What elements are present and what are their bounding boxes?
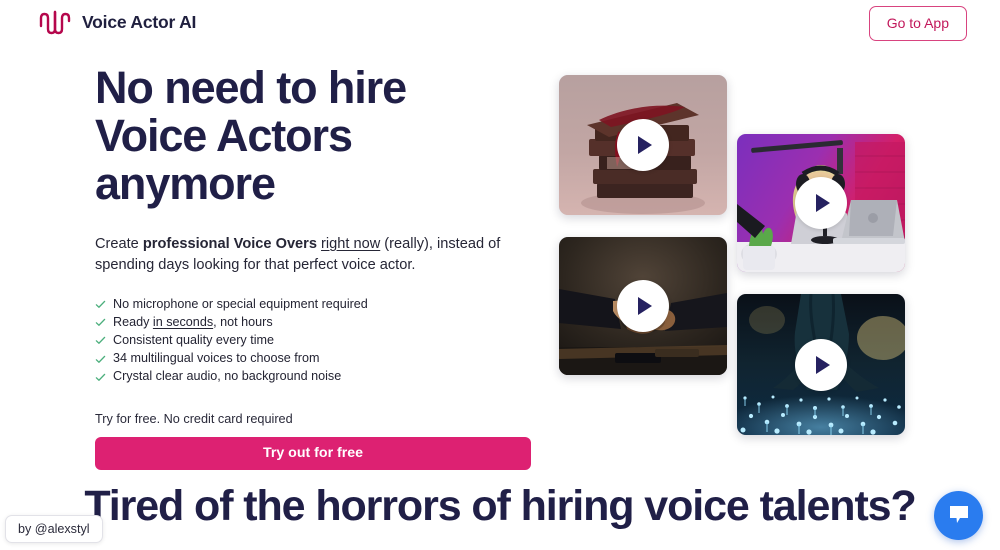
feature-link[interactable]: in seconds [153, 315, 213, 329]
landing-page: Voice Actor AI Go to App No need to hire… [0, 0, 1000, 550]
play-icon[interactable] [617, 280, 669, 332]
list-item: No microphone or special equipment requi… [95, 296, 535, 314]
try-out-for-free-button[interactable]: Try out for free [95, 437, 531, 470]
check-icon [95, 317, 106, 328]
feature-list: No microphone or special equipment requi… [95, 296, 535, 386]
video-card-chocolate[interactable] [559, 75, 727, 215]
hero-content: No need to hire Voice Actors anymore Cre… [95, 64, 535, 470]
waveform-logo-icon [38, 7, 72, 37]
list-item: Ready in seconds, not hours [95, 314, 535, 332]
check-icon [95, 335, 106, 346]
video-card-handshake[interactable] [559, 237, 727, 375]
feature-text-before: Ready [113, 315, 153, 329]
feature-text: Ready in seconds, not hours [113, 314, 273, 332]
check-icon [95, 372, 106, 383]
subtitle-part1: Create [95, 236, 143, 252]
page-title: No need to hire Voice Actors anymore [95, 64, 495, 208]
list-item: 34 multilingual voices to choose from [95, 350, 535, 368]
brand-logo[interactable]: Voice Actor AI [38, 7, 196, 37]
section-heading: Tired of the horrors of hiring voice tal… [0, 478, 1000, 534]
author-badge[interactable]: by @alexstyl [5, 515, 103, 543]
brand-name: Voice Actor AI [82, 12, 196, 33]
feature-text-after: , not hours [213, 315, 273, 329]
video-card-forest[interactable] [737, 294, 905, 435]
play-icon[interactable] [617, 119, 669, 171]
feature-text: Consistent quality every time [113, 332, 274, 350]
subtitle-link[interactable]: right now [321, 236, 380, 252]
video-card-studio[interactable] [737, 134, 905, 272]
play-icon[interactable] [795, 177, 847, 229]
site-header: Voice Actor AI Go to App [0, 0, 1000, 44]
feature-text: 34 multilingual voices to choose from [113, 350, 320, 368]
free-trial-note: Try for free. No credit card required [95, 412, 535, 426]
chat-widget-button[interactable] [934, 491, 983, 540]
feature-text: No microphone or special equipment requi… [113, 296, 368, 314]
list-item: Crystal clear audio, no background noise [95, 368, 535, 386]
play-icon[interactable] [795, 339, 847, 391]
list-item: Consistent quality every time [95, 332, 535, 350]
hero-subtitle: Create professional Voice Overs right no… [95, 234, 527, 276]
chat-bubble-icon [947, 503, 971, 528]
check-icon [95, 299, 106, 310]
go-to-app-button[interactable]: Go to App [869, 6, 967, 41]
subtitle-bold: professional Voice Overs [143, 236, 321, 252]
check-icon [95, 354, 106, 365]
feature-text: Crystal clear audio, no background noise [113, 368, 341, 386]
